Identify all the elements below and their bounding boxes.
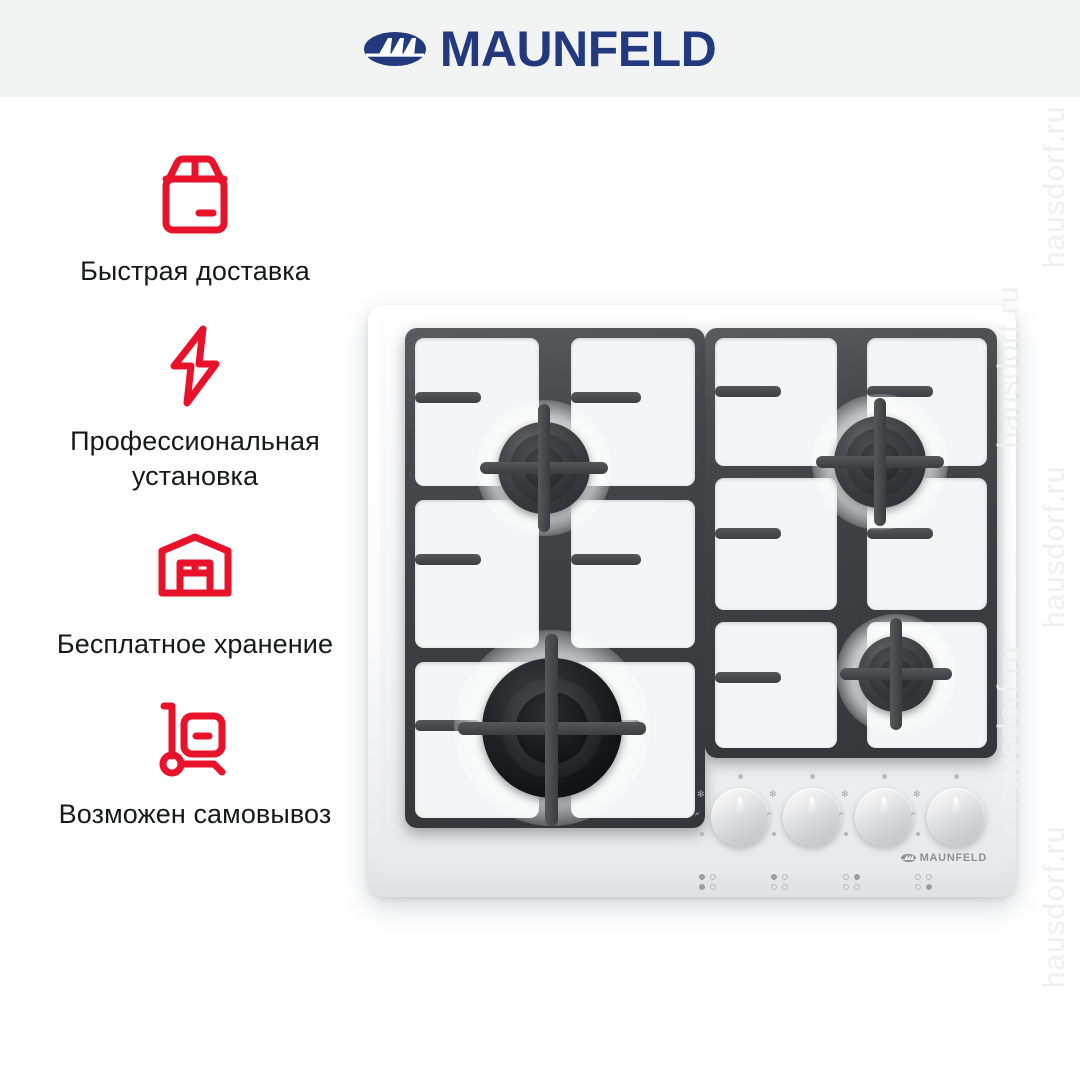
knob-4-off-dot (916, 832, 920, 836)
product-image-gas-hob: ✻ 🗲 ✻ 🗲 (368, 305, 1016, 900)
feature-label-pickup: Возможен самовывоз (59, 797, 332, 833)
knob-2-top-dot (810, 774, 815, 779)
knob-3-burner-position-indicator (843, 874, 865, 892)
feature-item-pickup: Возможен самовывоз (30, 693, 360, 833)
knob-4-ignition-mark: ✻ (913, 790, 921, 799)
knob-3-off-dot (844, 832, 848, 836)
knob-3-flame-mark: 🗲 (838, 810, 844, 819)
knob-3[interactable]: ✻ 🗲 (855, 788, 913, 846)
knob-3-dial[interactable] (855, 788, 913, 846)
brand-wordmark: MAUNFELD (440, 24, 717, 74)
knob-1-flame-mark: 🗲 (694, 810, 700, 819)
knob-4-flame-mark: 🗲 (910, 810, 916, 819)
knob-3-ignition-mark: ✻ (841, 790, 849, 799)
brand-header: MAUNFELD (0, 0, 1080, 97)
knob-2-burner-position-indicator (771, 874, 793, 892)
knob-4-burner-position-indicator (915, 874, 937, 892)
knob-1[interactable]: ✻ 🗲 (711, 788, 769, 846)
feature-item-storage: Бесплатное хранение (30, 523, 360, 663)
knob-4-top-dot (954, 774, 959, 779)
feature-item-installation: Профессиональная установка (30, 320, 360, 495)
maunfeld-logo: MAUNFELD (364, 24, 717, 74)
hob-brand-wordmark: MAUNFELD (920, 852, 987, 864)
maunfeld-ellipse-emblem (364, 29, 426, 69)
warehouse-icon (153, 523, 237, 615)
knob-4-dial[interactable] (927, 788, 985, 846)
hob-body: ✻ 🗲 ✻ 🗲 (368, 305, 1016, 897)
package-box-icon (155, 150, 235, 242)
hob-brand-logo: MAUNFELD (901, 852, 987, 864)
hob-enamel-surface: ✻ 🗲 ✻ 🗲 (380, 314, 1004, 874)
watermark-text: hausdorf.ru (1038, 466, 1072, 629)
hand-truck-icon (152, 693, 238, 785)
feature-item-delivery: Быстрая доставка (30, 150, 360, 290)
knob-2-off-dot (772, 832, 776, 836)
maunfeld-ellipse-emblem (901, 853, 916, 863)
knob-2-ignition-mark: ✻ (769, 790, 777, 799)
feature-label-storage: Бесплатное хранение (57, 627, 333, 663)
product-marketing-page: MAUNFELD Быстрая доставка (0, 0, 1080, 1080)
knob-1-dial[interactable] (711, 788, 769, 846)
feature-label-delivery: Быстрая доставка (80, 254, 310, 290)
knob-4[interactable]: ✻ 🗲 (927, 788, 985, 846)
knob-1-off-dot (700, 832, 704, 836)
knob-1-burner-position-indicator (699, 874, 721, 892)
knob-1-top-dot (738, 774, 743, 779)
control-panel: ✻ 🗲 ✻ 🗲 (705, 766, 997, 874)
knob-2-flame-mark: 🗲 (766, 810, 772, 819)
knob-3-top-dot (882, 774, 887, 779)
watermark-text: hausdorf.ru (1038, 826, 1072, 989)
feature-label-installation: Профессиональная установка (30, 424, 360, 495)
knob-1-ignition-mark: ✻ (697, 790, 705, 799)
features-list: Быстрая доставка Профессиональная устано… (20, 150, 370, 832)
watermark-text: hausdorf.ru (1038, 106, 1072, 269)
knob-2[interactable]: ✻ 🗲 (783, 788, 841, 846)
lightning-bolt-icon (160, 320, 230, 412)
knob-2-dial[interactable] (783, 788, 841, 846)
watermark-column-right: hausdorf.ru hausdorf.ru hausdorf.ru (1032, 0, 1078, 1080)
